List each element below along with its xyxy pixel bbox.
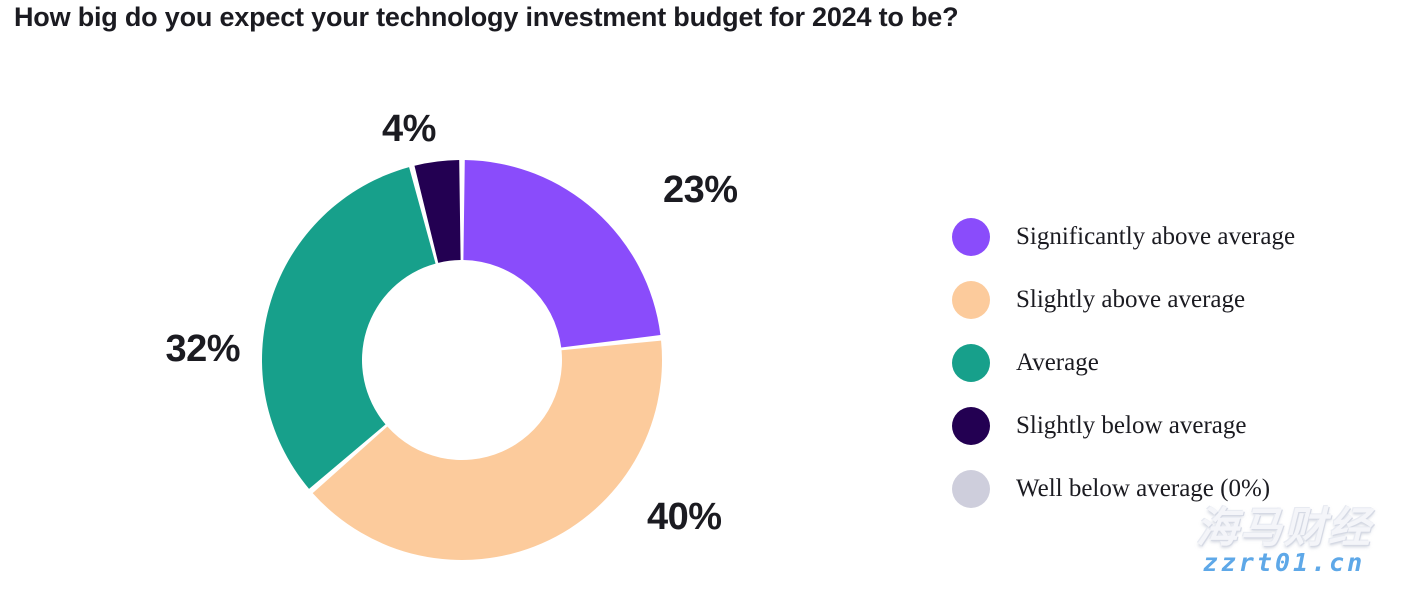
legend-item-label: Significantly above average	[1016, 224, 1295, 249]
donut-slice-group	[262, 160, 662, 560]
slice-label-slightly-below-average: 4%	[382, 108, 436, 150]
legend-item-significantly-above-average[interactable]: Significantly above average	[952, 205, 1402, 268]
donut-slice[interactable]	[262, 167, 436, 489]
chart-legend: Significantly above average Slightly abo…	[952, 205, 1402, 520]
slice-label-significantly-above-average: 23%	[663, 169, 738, 211]
donut-slice[interactable]	[313, 341, 662, 560]
legend-swatch-icon	[952, 218, 990, 256]
legend-item-well-below-average[interactable]: Well below average (0%)	[952, 457, 1402, 520]
watermark-url: zzrt01.cn	[1153, 548, 1415, 577]
legend-item-slightly-above-average[interactable]: Slightly above average	[952, 268, 1402, 331]
legend-swatch-icon	[952, 407, 990, 445]
legend-swatch-icon	[952, 470, 990, 508]
legend-swatch-icon	[952, 344, 990, 382]
slice-label-average: 32%	[165, 328, 240, 370]
legend-item-label: Well below average (0%)	[1016, 476, 1270, 501]
legend-swatch-icon	[952, 281, 990, 319]
legend-item-average[interactable]: Average	[952, 331, 1402, 394]
donut-chart: 23% 40% 32% 4%	[0, 0, 930, 594]
slice-label-slightly-above-average: 40%	[647, 496, 722, 538]
donut-chart-svg: 23% 40% 32% 4%	[0, 0, 930, 594]
legend-item-slightly-below-average[interactable]: Slightly below average	[952, 394, 1402, 457]
legend-item-label: Average	[1016, 350, 1099, 375]
legend-item-label: Slightly below average	[1016, 413, 1247, 438]
legend-item-label: Slightly above average	[1016, 287, 1245, 312]
donut-slice[interactable]	[463, 160, 660, 348]
